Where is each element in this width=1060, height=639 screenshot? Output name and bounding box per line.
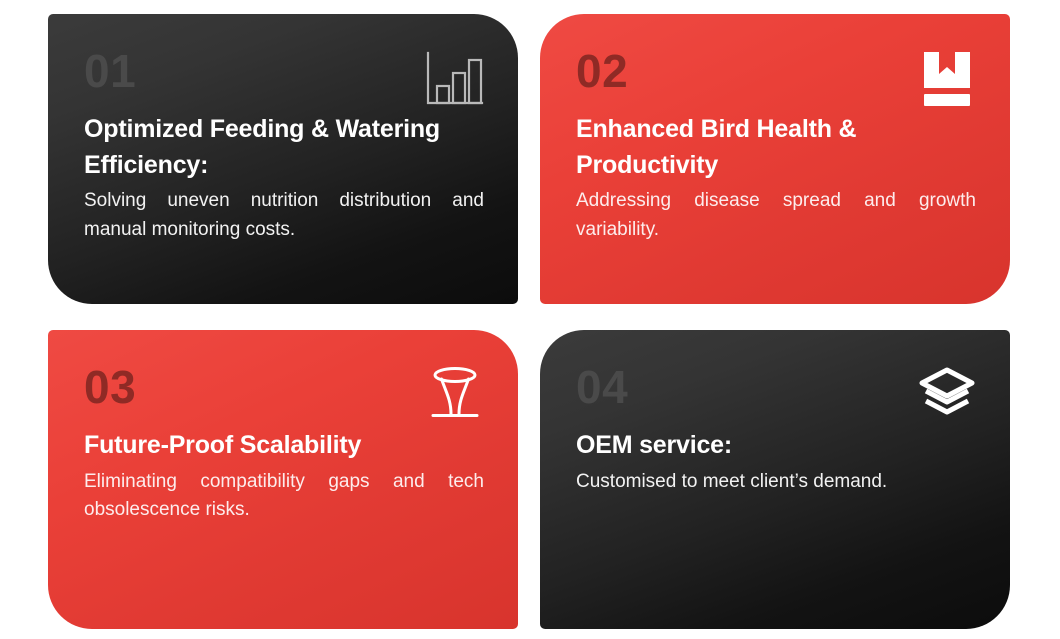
feature-card-01[interactable]: 01 Optimized Feeding & Watering Efficien… [48, 14, 518, 304]
feature-card-02[interactable]: 02 Enhanced Bird Health & Productivity A… [540, 14, 1010, 304]
card-body: Eliminating compatibility gaps and tech … [84, 468, 484, 525]
feature-card-grid: 01 Optimized Feeding & Watering Efficien… [0, 0, 1060, 639]
card-number: 04 [576, 364, 976, 410]
card-title: Enhanced Bird Health & Productivity [576, 112, 976, 183]
card-number: 03 [84, 364, 484, 410]
card-title: Future-Proof Scalability [84, 428, 484, 464]
card-body: Solving uneven nutrition distribution an… [84, 187, 484, 244]
card-number: 01 [84, 48, 484, 94]
feature-card-03[interactable]: 03 Future-Proof Scalability Eliminating … [48, 330, 518, 629]
card-body: Customised to meet client’s demand. [576, 468, 976, 497]
card-body: Addressing disease spread and growth var… [576, 187, 976, 244]
feature-card-04[interactable]: 04 OEM service: Customised to meet clien… [540, 330, 1010, 629]
card-number: 02 [576, 48, 976, 94]
card-title: OEM service: [576, 428, 976, 464]
card-title: Optimized Feeding & Watering Efficiency: [84, 112, 484, 183]
